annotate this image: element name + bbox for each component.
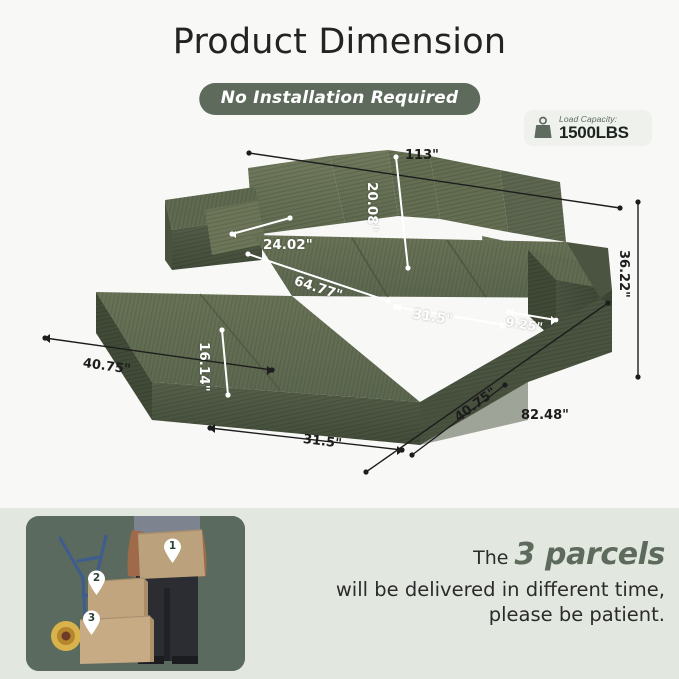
- delivery-line-3: please be patient.: [255, 602, 665, 627]
- delivery-photo-illustration: [26, 516, 245, 671]
- parcel-marker-1-number: 1: [163, 540, 182, 552]
- parcel-marker-3-number: 3: [82, 612, 101, 624]
- page-title: Product Dimension: [0, 22, 679, 62]
- no-installation-badge: No Installation Required: [199, 83, 481, 115]
- sofa-illustration: 113" 20.08" 24.02" 64.77" 31.5" 9.25" 36…: [0, 120, 679, 500]
- delivery-message: The3 parcels will be delivered in differ…: [255, 538, 665, 627]
- dimension-label-seat-height: 16.14": [196, 342, 212, 392]
- dimline-3622: [635, 199, 640, 379]
- delivery-headline: The3 parcels: [255, 538, 665, 573]
- dimension-section: Product Dimension No Installation Requir…: [0, 0, 679, 508]
- dimension-label-seat-depth: 24.02": [263, 237, 313, 253]
- dimension-label-backrest-height: 20.08": [364, 182, 380, 232]
- backrest-cushions: [248, 150, 566, 242]
- parcel-marker-2-number: 2: [87, 572, 106, 584]
- parcel-marker-1: 1: [163, 538, 182, 563]
- parcel-delivery-photo: 1 2 3: [26, 516, 245, 671]
- dimension-label-overall-length-top: 113": [405, 148, 439, 163]
- delivery-the-word: The: [473, 547, 508, 569]
- delivery-section: 1 2 3 The3 parcels will be delivered in …: [0, 508, 679, 679]
- delivery-line-2: will be delivered in different time,: [255, 577, 665, 602]
- delivery-parcels-count: 3 parcels: [514, 537, 665, 572]
- parcel-marker-3: 3: [82, 610, 101, 635]
- dimension-label-overall-depth: 82.48": [521, 408, 569, 423]
- product-dimension-infographic: Product Dimension No Installation Requir…: [0, 0, 679, 679]
- dimension-label-overall-height-right: 36.22": [616, 250, 631, 298]
- parcel-marker-2: 2: [87, 570, 106, 595]
- hand-truck-wheel: [51, 621, 81, 651]
